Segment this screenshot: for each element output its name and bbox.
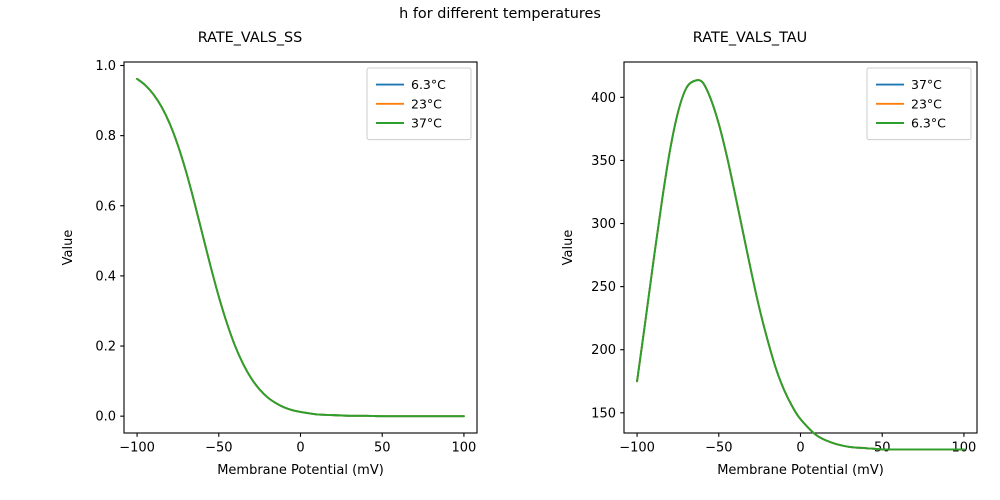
y-tick-label: 0.2 — [95, 340, 116, 355]
figure-canvas: h for different temperatures RATE_VALS_S… — [0, 0, 1000, 500]
legend-label-23C: 23°C — [911, 96, 942, 111]
y-tick-label: 350 — [591, 154, 616, 169]
y-axis-label: Value — [561, 230, 576, 266]
x-tick-label: 0 — [796, 441, 804, 456]
y-tick-label: 0.8 — [95, 129, 116, 144]
x-tick-label: −50 — [705, 441, 732, 456]
legend-label-37C: 37°C — [411, 116, 442, 131]
y-tick-label: 0.0 — [95, 410, 116, 425]
y-tick-label: 250 — [591, 280, 616, 295]
x-axis-label: Membrane Potential (mV) — [217, 463, 384, 478]
legend-label-23C: 23°C — [411, 96, 442, 111]
y-tick-label: 300 — [591, 217, 616, 232]
legend-label-37C: 37°C — [911, 77, 942, 92]
y-tick-label: 150 — [591, 406, 616, 421]
x-tick-label: 0 — [296, 441, 304, 456]
x-tick-label: 50 — [374, 441, 391, 456]
x-tick-label: 100 — [452, 441, 477, 456]
x-axis-label: Membrane Potential (mV) — [717, 463, 884, 478]
x-tick-label: −100 — [119, 441, 155, 456]
x-tick-label: −100 — [619, 441, 655, 456]
x-tick-label: −50 — [205, 441, 232, 456]
y-tick-label: 1.0 — [95, 59, 116, 74]
y-tick-label: 0.4 — [95, 269, 116, 284]
y-tick-label: 200 — [591, 343, 616, 358]
x-tick-label: 50 — [874, 441, 891, 456]
y-tick-label: 400 — [591, 91, 616, 106]
x-tick-label: 100 — [952, 441, 977, 456]
legend-label-6.3C: 6.3°C — [911, 116, 946, 131]
subplot-rate-vals-ss: RATE_VALS_SS −100−500501000.00.20.40.60.… — [0, 0, 500, 500]
plot-area-right: −100−50050100150200250300350400Membrane … — [500, 0, 1000, 500]
plot-area-left: −100−500501000.00.20.40.60.81.0Membrane … — [0, 0, 500, 500]
y-tick-label: 0.6 — [95, 199, 116, 214]
legend-label-6.3C: 6.3°C — [411, 77, 446, 92]
subplot-rate-vals-tau: RATE_VALS_TAU −100−500501001502002503003… — [500, 0, 1000, 500]
y-axis-label: Value — [61, 230, 76, 266]
